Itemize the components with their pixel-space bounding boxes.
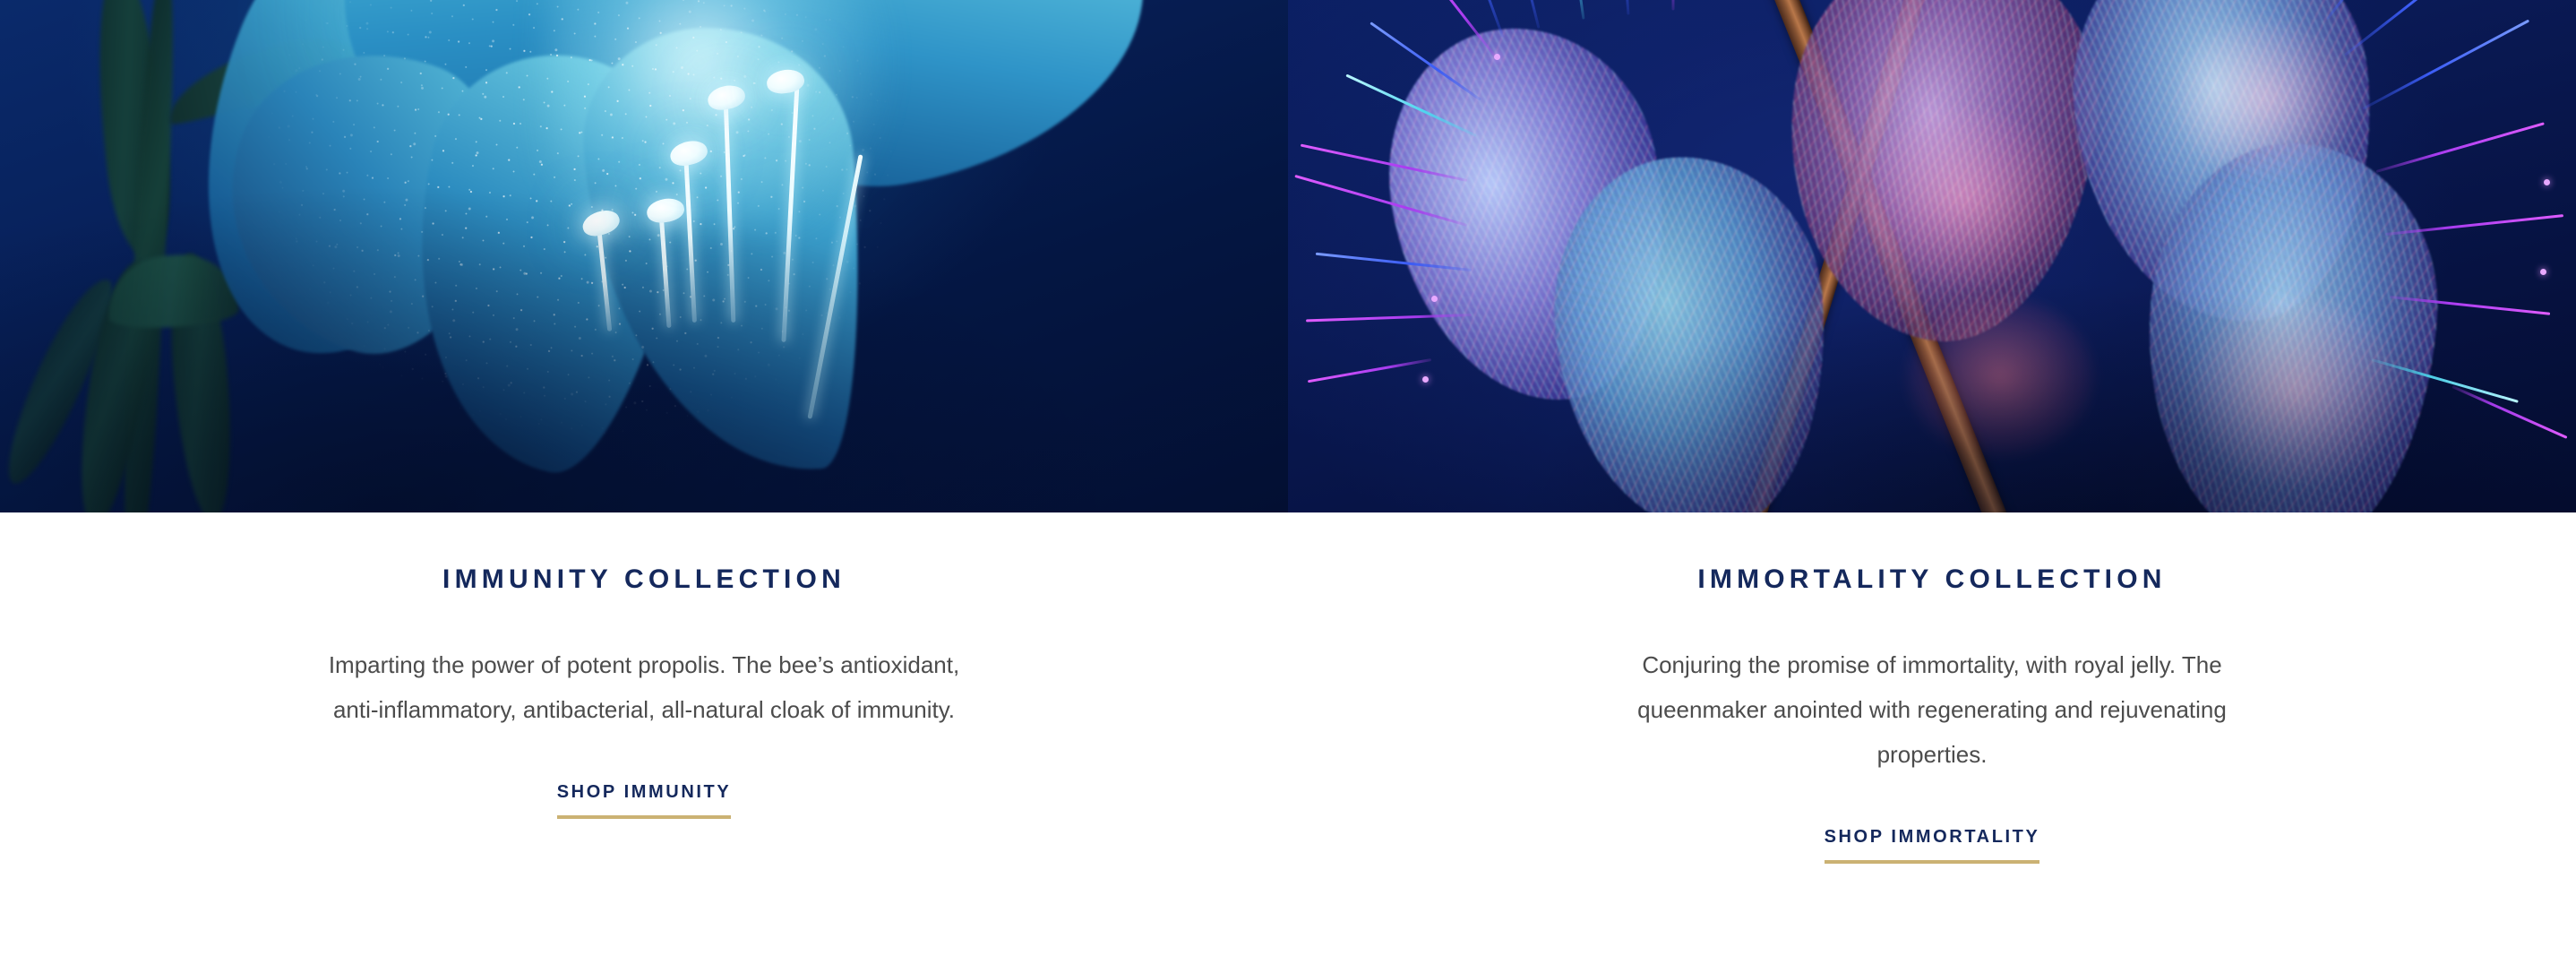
phacelia-bloom-4 [2059, 0, 2388, 335]
phacelia-bloom-5 [2134, 133, 2448, 512]
hero-image-strip [0, 0, 2576, 512]
lily-pollen-specks [186, 0, 942, 512]
shop-immortality-underline [1825, 860, 2040, 864]
page-title-immunity: IMMUNITY COLLECTION [0, 564, 1288, 594]
shop-immortality-cta[interactable]: SHOP IMMORTALITY [1825, 827, 2040, 864]
immortality-collection-card: IMMORTALITY COLLECTION Conjuring the pro… [1288, 512, 2576, 973]
phacelia-red-glow-1 [1861, 108, 2067, 287]
shop-immunity-cta[interactable]: SHOP IMMUNITY [557, 782, 732, 819]
page-title-immortality: IMMORTALITY COLLECTION [1288, 564, 2576, 594]
immunity-collection-card: IMMUNITY COLLECTION Imparting the power … [0, 512, 1288, 973]
phacelia-red-glow-4 [2175, 18, 2354, 179]
immunity-description: Imparting the power of potent propolis. … [304, 642, 984, 732]
phacelia-branch-left [1755, 0, 2011, 512]
phacelia-red-glow-3 [2193, 296, 2399, 484]
immunity-hero-image[interactable] [0, 0, 1288, 512]
phacelia-bloom-1 [1365, 6, 1695, 424]
phacelia-bloom-2 [1544, 148, 1839, 512]
immortality-description: Conjuring the promise of immortality, wi… [1592, 642, 2272, 777]
collections-promo-page: IMMUNITY COLLECTION Imparting the power … [0, 0, 2576, 973]
shop-immunity-link[interactable]: SHOP IMMUNITY [557, 782, 732, 815]
phacelia-bloom-3 [1770, 0, 2114, 356]
shop-immunity-underline [557, 815, 732, 819]
collections-content: IMMUNITY COLLECTION Imparting the power … [0, 512, 2576, 973]
phacelia-branch-right [1743, 0, 1935, 512]
shop-immortality-link[interactable]: SHOP IMMORTALITY [1825, 827, 2040, 860]
phacelia-red-glow-2 [1906, 296, 2094, 457]
immortality-hero-image[interactable] [1288, 0, 2576, 512]
